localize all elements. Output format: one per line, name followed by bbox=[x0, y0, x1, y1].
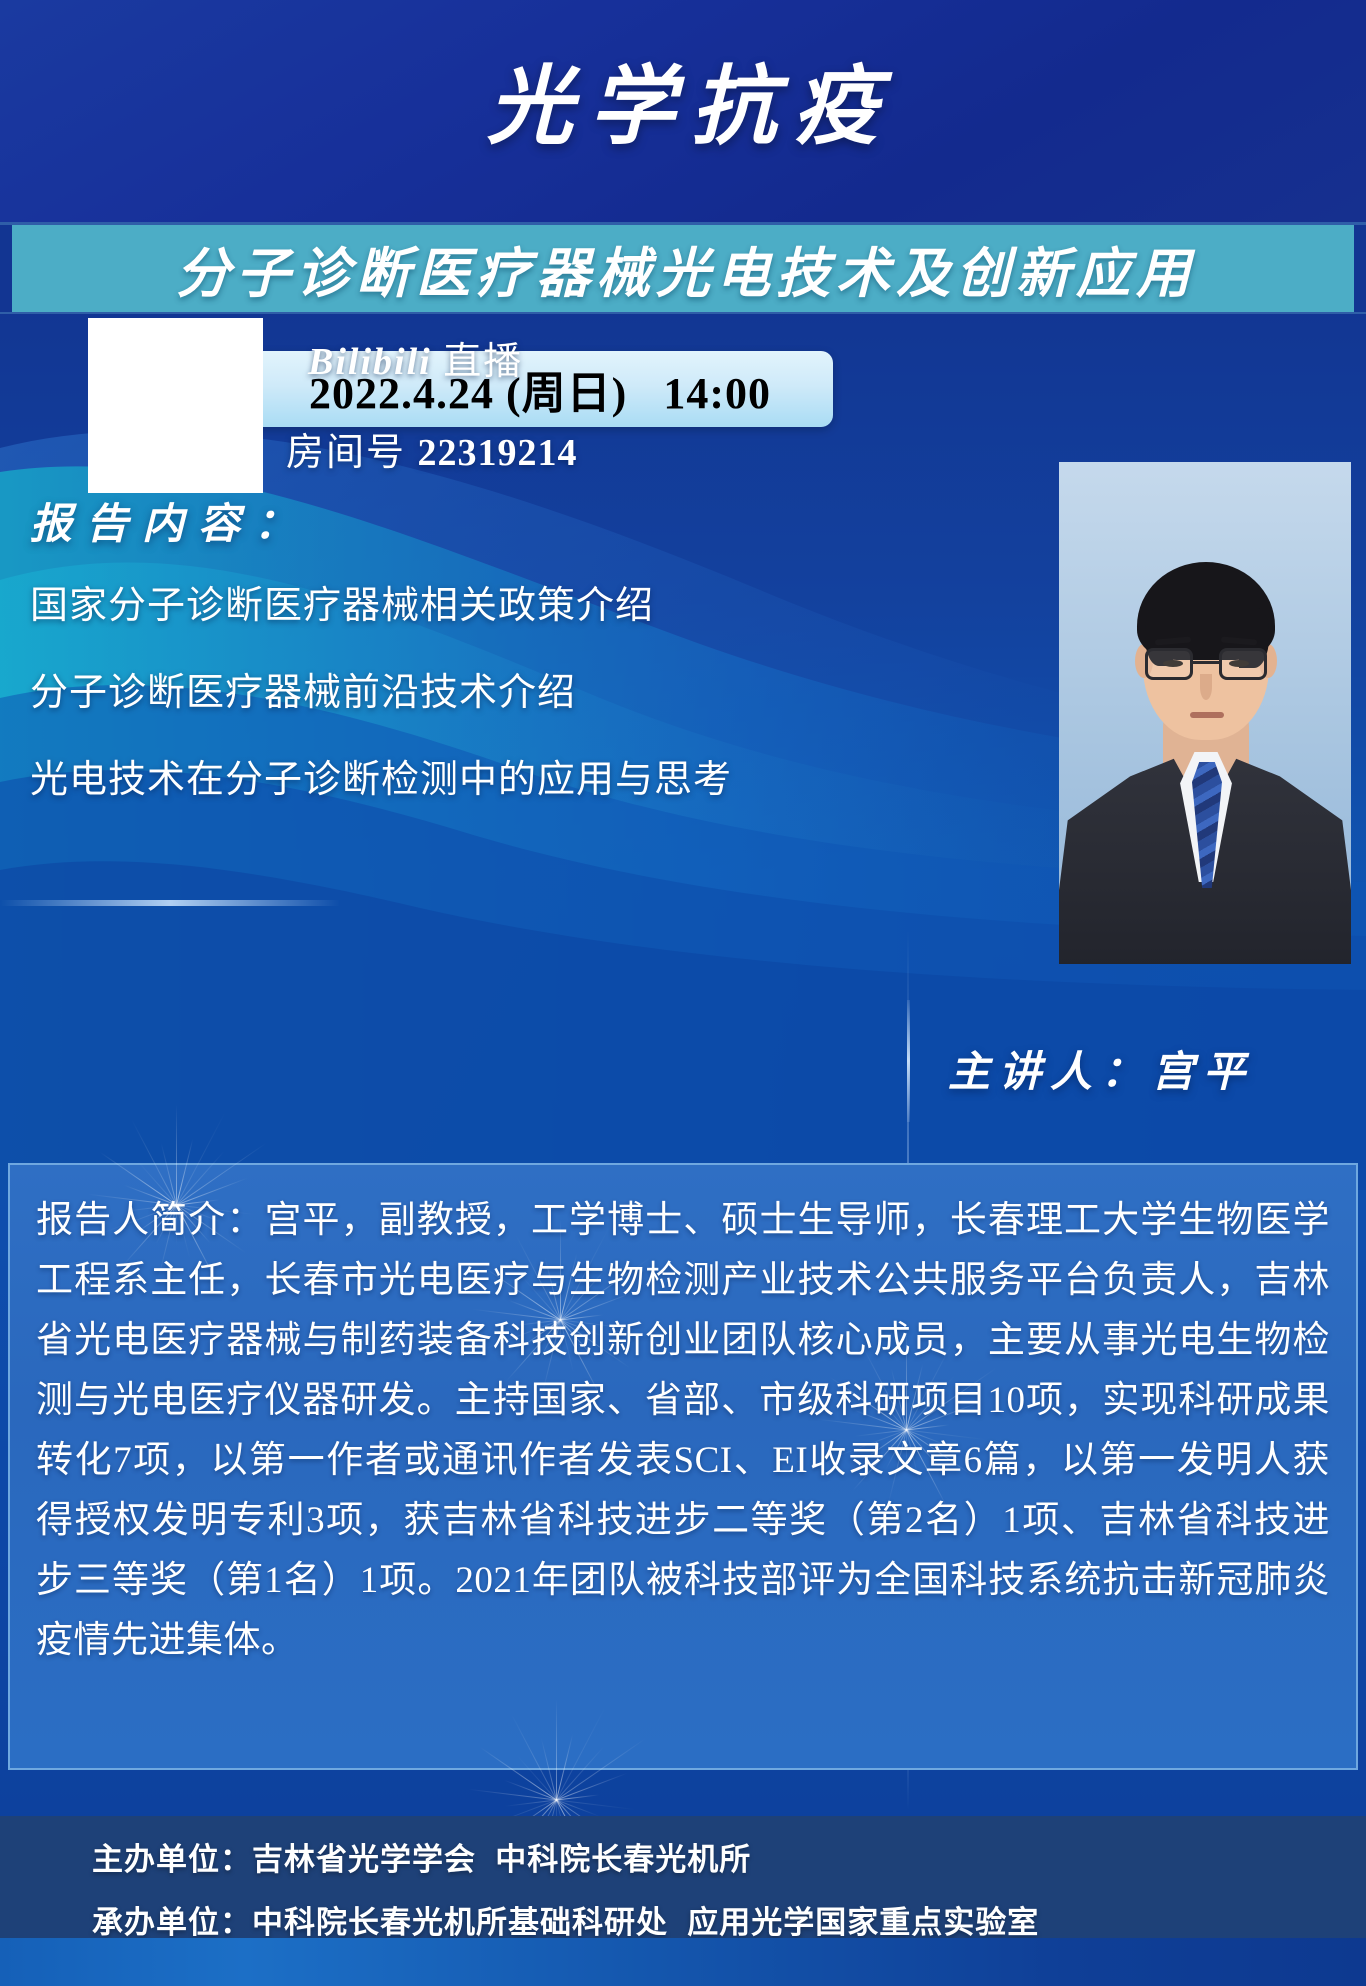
speaker-bio-panel: 报告人简介：宫平，副教授，工学博士、硕士生导师，长春理工大学生物医学工程系主任，… bbox=[8, 1163, 1358, 1770]
live-room-line: 房间号 22319214 bbox=[286, 421, 578, 476]
qr-code-grid bbox=[93, 323, 258, 488]
speaker-divider bbox=[907, 1000, 910, 1122]
agenda-item-1: 国家分子诊断医疗器械相关政策介绍 bbox=[30, 574, 732, 629]
glasses-lens-left bbox=[1145, 648, 1193, 680]
portrait-mouth bbox=[1190, 712, 1224, 718]
footer-accent-strip bbox=[0, 1938, 1366, 1986]
agenda-item-3: 光电技术在分子诊断检测中的应用与思考 bbox=[30, 748, 732, 803]
live-platform-suffix: 直播 bbox=[432, 341, 524, 383]
live-platform-line: Bilibili 直播 bbox=[308, 330, 578, 385]
page-title: 光学抗疫 bbox=[0, 36, 1366, 161]
footer-co-organizer: 承办单位：中科院长春光机所基础科研处 应用光学国家重点实验室 bbox=[92, 1897, 1366, 1942]
agenda-heading: 报告内容： bbox=[30, 490, 310, 551]
speaker-label: 主讲人：宫平 bbox=[948, 1038, 1254, 1099]
footer-organizer: 主办单位：吉林省光学学会 中科院长春光机所 bbox=[92, 1834, 1366, 1879]
portrait-nose bbox=[1200, 674, 1212, 700]
subtitle-text: 分子诊断医疗器械光电技术及创新应用 bbox=[170, 229, 1196, 308]
agenda-item-2: 分子诊断医疗器械前沿技术介绍 bbox=[30, 661, 732, 716]
glasses-lens-right bbox=[1219, 648, 1267, 680]
speaker-portrait bbox=[1059, 462, 1351, 964]
speaker-bio-text: 报告人简介：宫平，副教授，工学博士、硕士生导师，长春理工大学生物医学工程系主任，… bbox=[36, 1191, 1330, 1671]
live-info: Bilibili 直播 房间号 22319214 bbox=[308, 330, 578, 476]
live-platform-name: Bilibili bbox=[308, 341, 432, 383]
qr-code[interactable] bbox=[88, 318, 263, 493]
header-band: 光学抗疫 bbox=[0, 0, 1366, 222]
footer-band: 主办单位：吉林省光学学会 中科院长春光机所 承办单位：中科院长春光机所基础科研处… bbox=[0, 1816, 1366, 1938]
live-room-label: 房间号 bbox=[286, 432, 418, 474]
glasses-bridge bbox=[1193, 661, 1219, 664]
poster-root: 光学抗疫 分子诊断医疗器械光电技术及创新应用 2022.4.24 (周日) 14… bbox=[0, 0, 1366, 1986]
live-room-number: 22319214 bbox=[418, 432, 578, 474]
subtitle-band: 分子诊断医疗器械光电技术及创新应用 bbox=[0, 222, 1366, 314]
agenda-list: 国家分子诊断医疗器械相关政策介绍 分子诊断医疗器械前沿技术介绍 光电技术在分子诊… bbox=[30, 574, 732, 835]
